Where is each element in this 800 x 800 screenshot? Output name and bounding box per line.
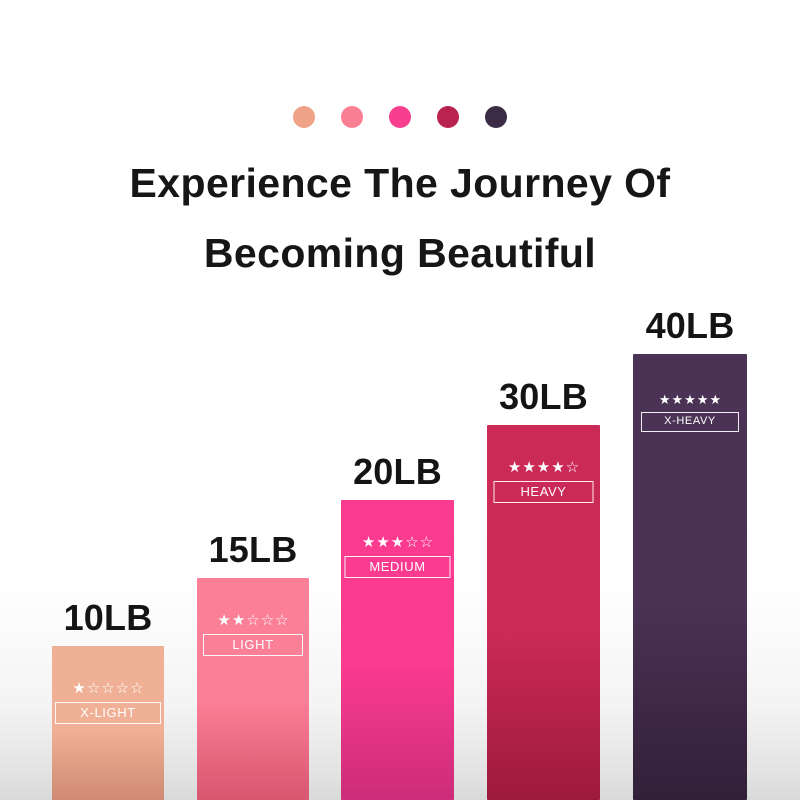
star-filled-icon: ★	[684, 393, 696, 406]
bar-20lb[interactable]: 20LB★★★☆☆MEDIUM	[341, 500, 454, 800]
star-empty-icon: ☆	[101, 681, 114, 696]
bar-40lb[interactable]: 40LB★★★★★X-HEAVY	[633, 354, 747, 800]
star-filled-icon: ★	[362, 535, 375, 550]
star-empty-icon: ☆	[246, 613, 259, 628]
bar-10lb-tier-label: X-LIGHT	[55, 702, 161, 724]
star-empty-icon: ☆	[130, 681, 143, 696]
star-filled-icon: ★	[697, 393, 709, 406]
resistance-bar-chart: 10LB★☆☆☆☆X-LIGHT15LB★★☆☆☆LIGHT20LB★★★☆☆M…	[0, 0, 800, 800]
bar-15lb-tier-label: LIGHT	[203, 634, 303, 656]
bar-40lb-tier-label: X-HEAVY	[641, 412, 739, 432]
star-filled-icon: ★	[659, 393, 671, 406]
star-filled-icon: ★	[232, 613, 245, 628]
bar-20lb-weight-label: 20LB	[353, 452, 442, 492]
bar-30lb-star-rating: ★★★★☆	[508, 460, 579, 475]
star-filled-icon: ★	[672, 393, 684, 406]
bar-15lb-badge: ★★☆☆☆LIGHT	[197, 613, 309, 656]
bar-15lb-star-rating: ★★☆☆☆	[217, 613, 288, 628]
bar-30lb-badge: ★★★★☆HEAVY	[487, 460, 600, 503]
bar-10lb[interactable]: 10LB★☆☆☆☆X-LIGHT	[52, 646, 164, 800]
star-empty-icon: ☆	[261, 613, 274, 628]
bar-10lb-weight-label: 10LB	[64, 598, 153, 638]
bar-40lb-badge: ★★★★★X-HEAVY	[633, 393, 747, 432]
star-filled-icon: ★	[72, 681, 85, 696]
star-filled-icon: ★	[537, 460, 550, 475]
star-empty-icon: ☆	[275, 613, 288, 628]
bar-20lb-star-rating: ★★★☆☆	[362, 535, 433, 550]
bar-30lb-tier-label: HEAVY	[494, 481, 594, 503]
bar-10lb-badge: ★☆☆☆☆X-LIGHT	[52, 681, 164, 724]
bar-40lb-weight-label: 40LB	[646, 306, 735, 346]
bar-30lb-weight-label: 30LB	[499, 377, 588, 417]
bar-20lb-badge: ★★★☆☆MEDIUM	[341, 535, 454, 578]
star-filled-icon: ★	[508, 460, 521, 475]
bar-10lb-star-rating: ★☆☆☆☆	[72, 681, 143, 696]
star-filled-icon: ★	[376, 535, 389, 550]
star-empty-icon: ☆	[566, 460, 579, 475]
star-empty-icon: ☆	[405, 535, 418, 550]
star-filled-icon: ★	[217, 613, 230, 628]
star-empty-icon: ☆	[116, 681, 129, 696]
infographic-page: Experience The Journey Of Becoming Beaut…	[0, 0, 800, 800]
bar-15lb[interactable]: 15LB★★☆☆☆LIGHT	[197, 578, 309, 800]
star-filled-icon: ★	[551, 460, 564, 475]
star-filled-icon: ★	[709, 393, 721, 406]
star-filled-icon: ★	[391, 535, 404, 550]
bar-20lb-tier-label: MEDIUM	[345, 556, 451, 578]
star-empty-icon: ☆	[87, 681, 100, 696]
star-empty-icon: ☆	[420, 535, 433, 550]
bar-15lb-weight-label: 15LB	[209, 530, 298, 570]
star-filled-icon: ★	[522, 460, 535, 475]
bar-40lb-star-rating: ★★★★★	[659, 393, 721, 406]
bar-30lb[interactable]: 30LB★★★★☆HEAVY	[487, 425, 600, 800]
